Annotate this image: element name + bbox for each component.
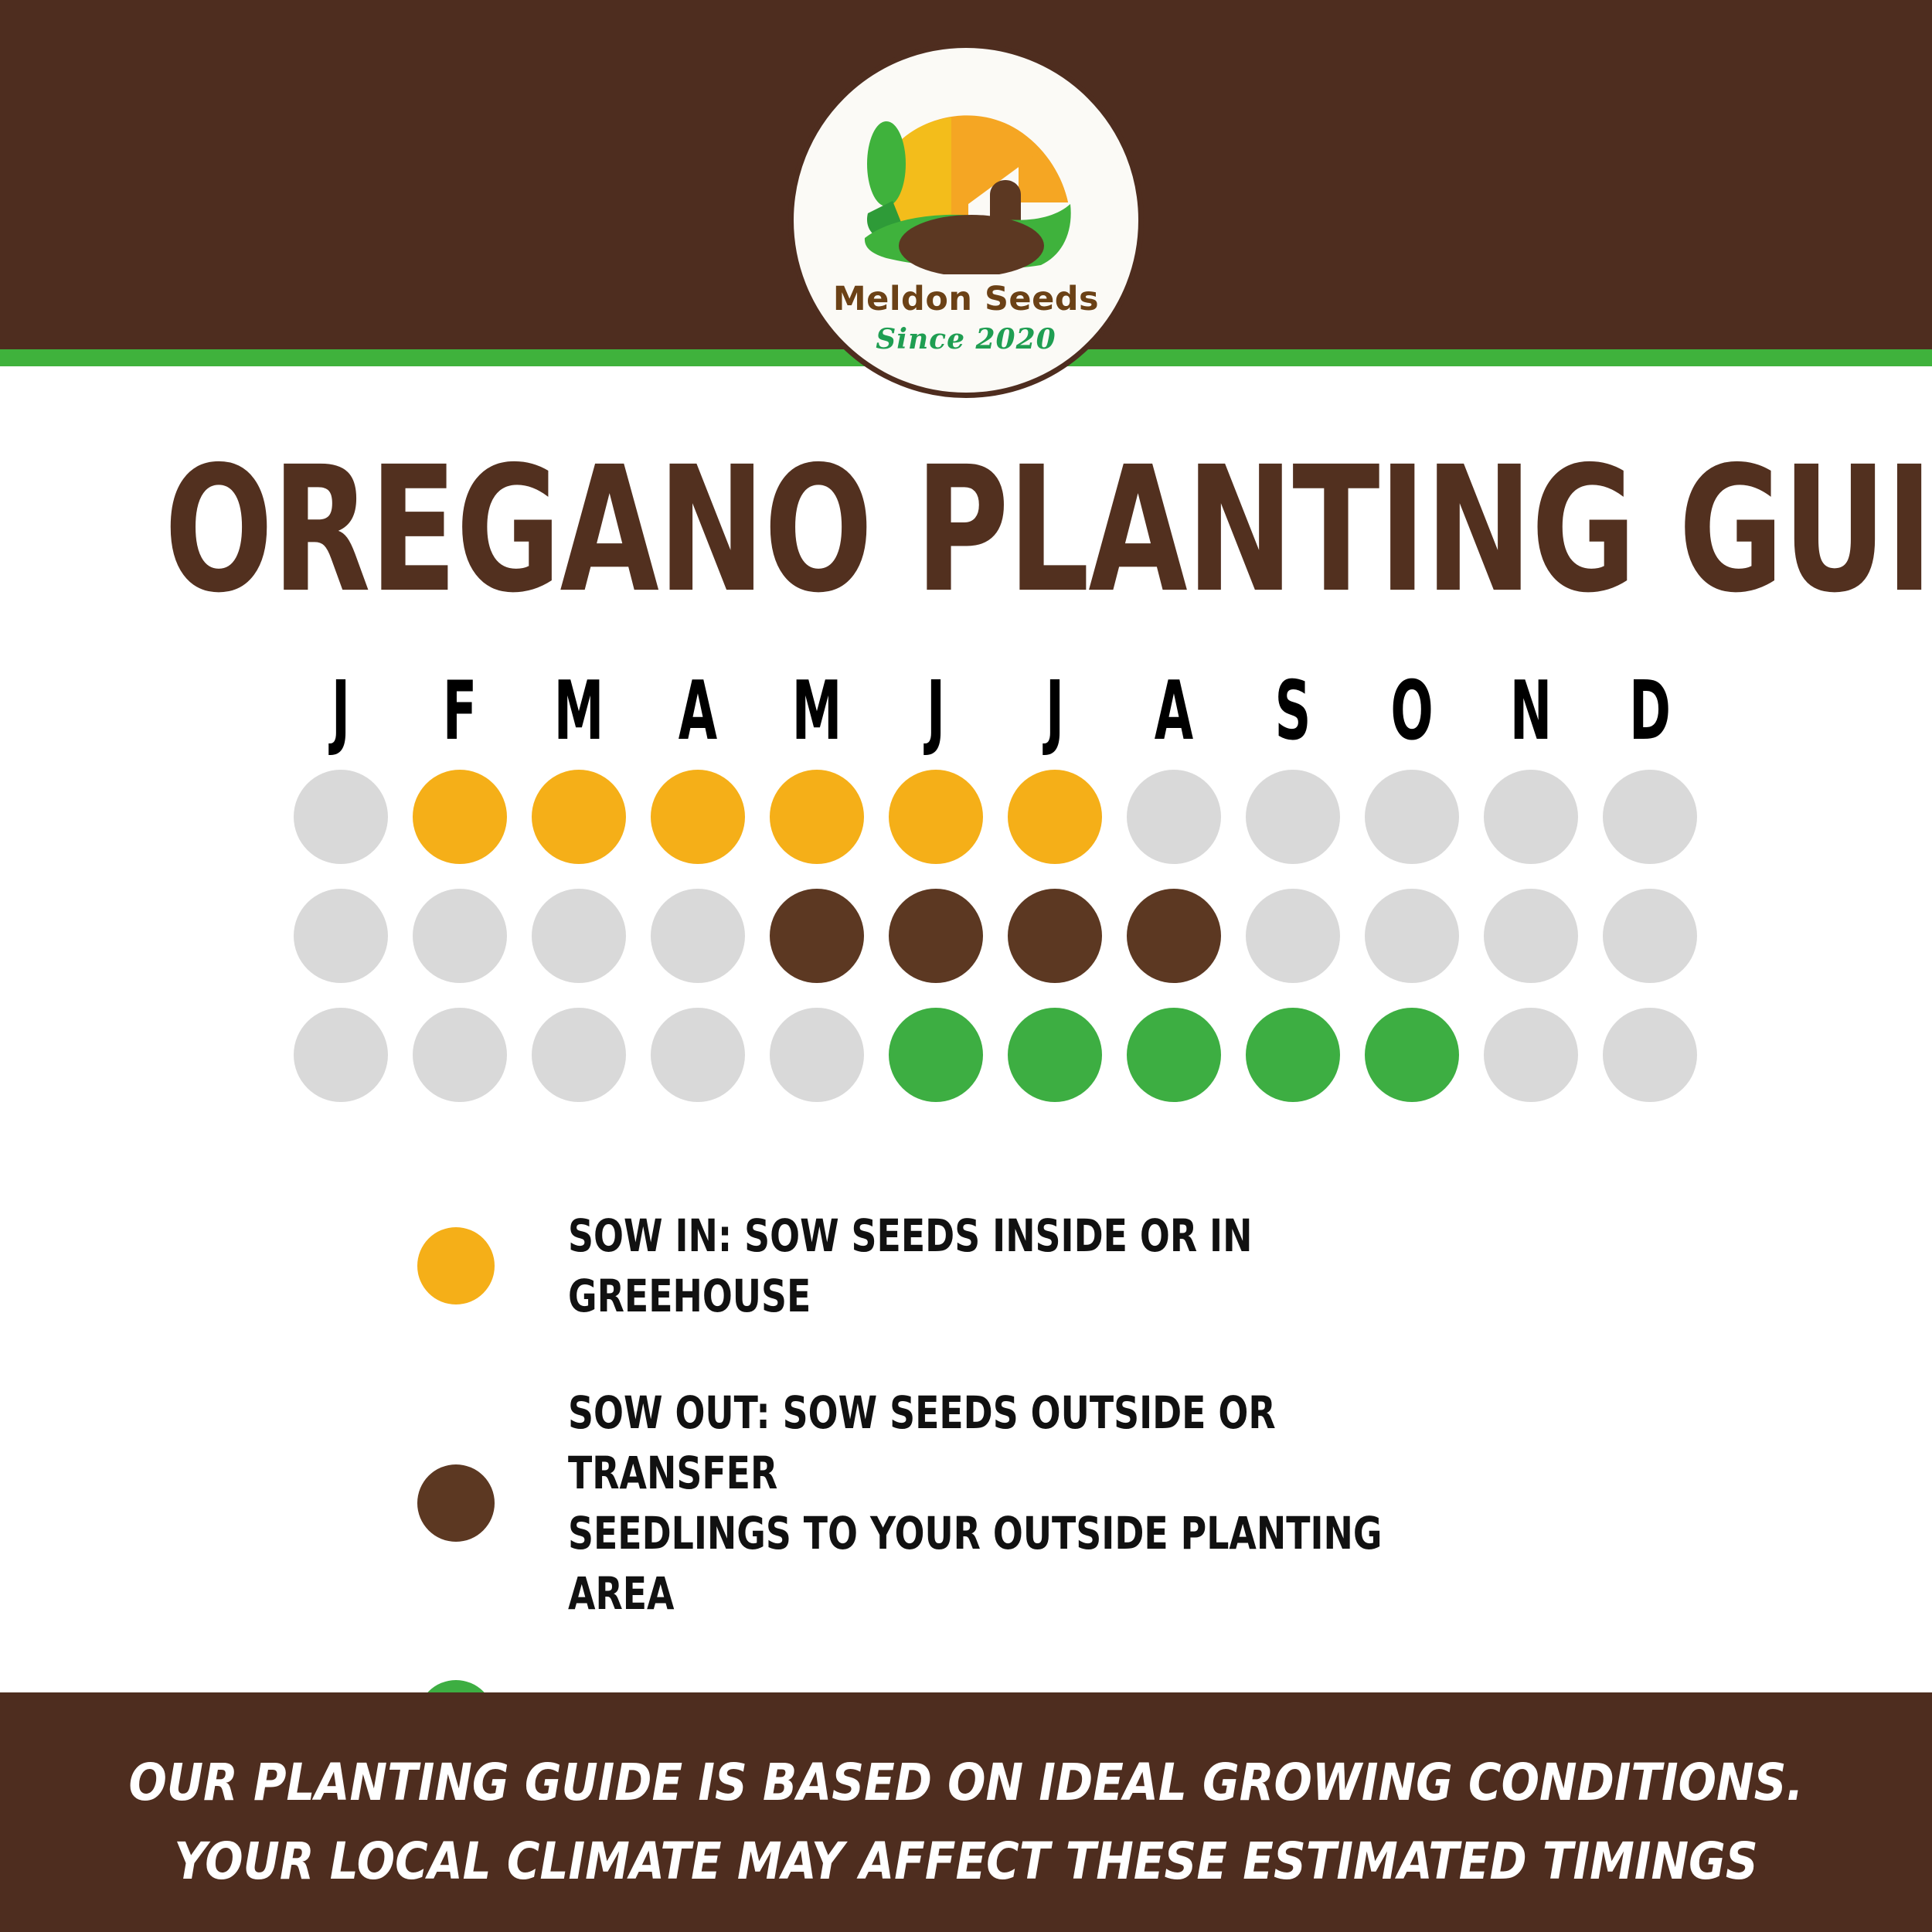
- cell-harvest-april: [638, 1008, 757, 1102]
- planting-calendar: JFMAMJJASOND: [281, 665, 1688, 1114]
- cell-harvest-november: [1471, 1008, 1590, 1102]
- dot-inactive-icon: [413, 1008, 507, 1102]
- dot-active-icon: [770, 889, 864, 983]
- month-label-december: D: [1613, 671, 1686, 752]
- cell-sow-out-march: [519, 889, 638, 983]
- cell-sow-out-november: [1471, 889, 1590, 983]
- cell-harvest-july: [995, 1008, 1114, 1102]
- dot-active-icon: [1008, 889, 1102, 983]
- dot-inactive-icon: [1484, 770, 1578, 864]
- dot-inactive-icon: [1484, 1008, 1578, 1102]
- dot-inactive-icon: [294, 770, 388, 864]
- month-label-march: M: [542, 671, 615, 752]
- dot-inactive-icon: [294, 1008, 388, 1102]
- dot-inactive-icon: [1246, 889, 1340, 983]
- cell-sow-out-may: [757, 889, 876, 983]
- dot-active-icon: [413, 770, 507, 864]
- cell-sow-out-april: [638, 889, 757, 983]
- cell-sow-in-september: [1233, 770, 1352, 864]
- legend-item-0: SOW IN: SOW SEEDS INSIDE OR IN GREEHOUSE: [417, 1206, 1731, 1327]
- dot-active-icon: [889, 1008, 983, 1102]
- dot-inactive-icon: [1365, 770, 1459, 864]
- month-label-july: J: [1018, 671, 1091, 752]
- cell-harvest-january: [281, 1008, 400, 1102]
- dot-active-icon: [889, 770, 983, 864]
- legend-label: SOW IN: SOW SEEDS INSIDE OR IN GREEHOUSE: [568, 1206, 1487, 1327]
- dot-active-icon: [1246, 1008, 1340, 1102]
- dot-inactive-icon: [413, 889, 507, 983]
- cell-harvest-december: [1590, 1008, 1709, 1102]
- cell-harvest-february: [400, 1008, 519, 1102]
- cell-sow-out-september: [1233, 889, 1352, 983]
- brand-logo: Meldon Seeds Since 2020: [788, 43, 1144, 398]
- cell-sow-in-june: [876, 770, 995, 864]
- farmhouse-logo-icon: [838, 108, 1094, 274]
- sow-out-row: [281, 876, 1688, 995]
- legend-label: SOW OUT: SOW SEEDS OUTSIDE OR TRANSFER S…: [568, 1383, 1487, 1624]
- dot-inactive-icon: [1365, 889, 1459, 983]
- footer-disclaimer: OUR PLANTING GUIDE IS BASED ON IDEAL GRO…: [116, 1743, 1816, 1902]
- cell-sow-out-december: [1590, 889, 1709, 983]
- cell-sow-out-january: [281, 889, 400, 983]
- cell-sow-out-august: [1114, 889, 1233, 983]
- logo-brand-name: Meldon Seeds: [794, 280, 1138, 318]
- cell-harvest-june: [876, 1008, 995, 1102]
- cell-sow-in-march: [519, 770, 638, 864]
- month-label-may: M: [780, 671, 853, 752]
- dot-inactive-icon: [651, 889, 745, 983]
- dot-active-icon: [1127, 889, 1221, 983]
- cell-sow-in-august: [1114, 770, 1233, 864]
- dot-inactive-icon: [770, 1008, 864, 1102]
- dot-active-icon: [1008, 770, 1102, 864]
- month-label-october: O: [1375, 671, 1448, 752]
- dot-inactive-icon: [532, 889, 626, 983]
- dot-inactive-icon: [1484, 889, 1578, 983]
- dot-active-icon: [651, 770, 745, 864]
- dot-active-icon: [1127, 1008, 1221, 1102]
- cell-sow-in-january: [281, 770, 400, 864]
- month-label-april: A: [661, 671, 734, 752]
- dot-inactive-icon: [1127, 770, 1221, 864]
- dot-active-icon: [889, 889, 983, 983]
- cell-sow-in-november: [1471, 770, 1590, 864]
- dot-active-icon: [1008, 1008, 1102, 1102]
- month-label-february: F: [423, 671, 496, 752]
- footer-bar: OUR PLANTING GUIDE IS BASED ON IDEAL GRO…: [0, 1692, 1932, 1932]
- month-label-september: S: [1256, 671, 1329, 752]
- dot-active-icon: [532, 770, 626, 864]
- dot-inactive-icon: [1603, 1008, 1697, 1102]
- legend-swatch-icon: [417, 1464, 495, 1542]
- dot-inactive-icon: [532, 1008, 626, 1102]
- legend-swatch-icon: [417, 1227, 495, 1304]
- cell-sow-in-october: [1352, 770, 1471, 864]
- cell-sow-in-april: [638, 770, 757, 864]
- cell-harvest-september: [1233, 1008, 1352, 1102]
- cell-sow-in-december: [1590, 770, 1709, 864]
- harvest-row: [281, 995, 1688, 1114]
- month-header-row: JFMAMJJASOND: [281, 665, 1688, 757]
- logo-tagline: Since 2020: [794, 323, 1138, 355]
- cell-sow-out-february: [400, 889, 519, 983]
- dot-inactive-icon: [1603, 770, 1697, 864]
- cell-sow-out-june: [876, 889, 995, 983]
- dot-inactive-icon: [1246, 770, 1340, 864]
- cell-harvest-august: [1114, 1008, 1233, 1102]
- month-label-august: A: [1137, 671, 1210, 752]
- page-title: OREGANO PLANTING GUIDE: [165, 444, 1768, 617]
- month-label-november: N: [1494, 671, 1567, 752]
- dot-inactive-icon: [651, 1008, 745, 1102]
- cell-sow-in-july: [995, 770, 1114, 864]
- dot-inactive-icon: [294, 889, 388, 983]
- month-label-january: J: [304, 671, 377, 752]
- cell-sow-in-may: [757, 770, 876, 864]
- dot-active-icon: [770, 770, 864, 864]
- cell-sow-in-february: [400, 770, 519, 864]
- cell-harvest-march: [519, 1008, 638, 1102]
- cell-sow-out-july: [995, 889, 1114, 983]
- month-label-june: J: [899, 671, 972, 752]
- legend-item-1: SOW OUT: SOW SEEDS OUTSIDE OR TRANSFER S…: [417, 1383, 1731, 1624]
- dot-active-icon: [1365, 1008, 1459, 1102]
- cell-harvest-october: [1352, 1008, 1471, 1102]
- cell-harvest-may: [757, 1008, 876, 1102]
- cell-sow-out-october: [1352, 889, 1471, 983]
- sow-in-row: [281, 757, 1688, 876]
- dot-inactive-icon: [1603, 889, 1697, 983]
